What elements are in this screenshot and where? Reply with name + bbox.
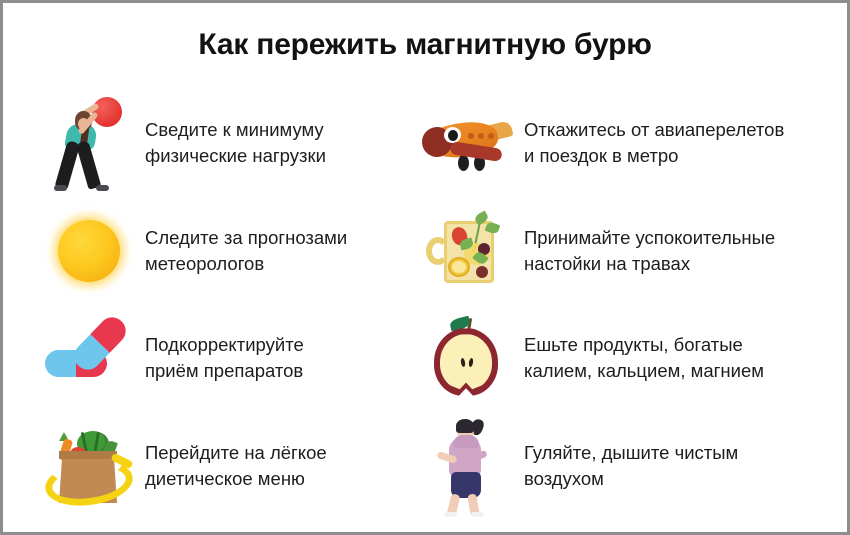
bag-fold-shape (59, 451, 117, 459)
infographic-poster: Как пережить магнитную бурю (0, 0, 850, 535)
leg-shape (76, 140, 102, 190)
tip-item: Сведите к минимуму физические нагрузки (41, 89, 416, 197)
shoe-shape (54, 185, 67, 191)
shoe-shape (96, 185, 109, 191)
apple-half-icon (416, 306, 516, 410)
citrus-pulp-shape (452, 261, 466, 273)
walking-woman-icon (416, 414, 516, 518)
sun-icon (41, 199, 137, 303)
sun-disc-shape (58, 220, 120, 282)
tip-item: Подкорректируйте приём препаратов (41, 305, 416, 413)
window-shape (468, 133, 474, 139)
tip-item: Перейдите на лёгкое диетическое меню (41, 412, 416, 520)
tip-text-line1: Сведите к минимуму (145, 119, 324, 140)
tip-text-line1: Перейдите на лёгкое (145, 442, 327, 463)
tip-item: Гуляйте, дышите чистым воздухом (416, 412, 839, 520)
tip-text: Откажитесь от авиаперелетов и поездок в … (524, 117, 784, 169)
tip-text-line1: Следите за прогнозами (145, 227, 347, 248)
tip-item: Откажитесь от авиаперелетов и поездок в … (416, 89, 839, 197)
shoe-shape (444, 512, 457, 517)
tip-text-line2: физические нагрузки (145, 143, 326, 169)
page-title: Как пережить магнитную бурю (3, 3, 847, 67)
tip-text-line1: Ешьте продукты, богатые (524, 334, 743, 355)
tips-grid: Сведите к минимуму физические нагрузки (3, 89, 847, 520)
tip-text-line2: настойки на травах (524, 251, 775, 277)
tip-text: Гуляйте, дышите чистым воздухом (524, 440, 738, 492)
exercise-ball-shape (92, 97, 122, 127)
tip-text: Ешьте продукты, богатые калием, кальцием… (524, 332, 764, 384)
pupil-shape (448, 130, 458, 141)
tip-text-line2: калием, кальцием, магнием (524, 358, 764, 384)
tip-text-line1: Принимайте успокоительные (524, 227, 775, 248)
airplane-icon (416, 91, 516, 195)
grocery-bag-measuring-tape-icon (41, 414, 137, 518)
tip-text-line1: Гуляйте, дышите чистым (524, 442, 738, 463)
wheel-shape (458, 155, 469, 171)
exercise-woman-icon (41, 91, 137, 195)
window-shape (478, 133, 484, 139)
hood-shape (453, 435, 479, 448)
apple-flesh-shape (440, 334, 492, 390)
tip-item: Ешьте продукты, богатые калием, кальцием… (416, 305, 839, 413)
pills-icon (41, 306, 137, 410)
window-shape (488, 133, 494, 139)
shoe-shape (471, 512, 484, 517)
tip-text: Сведите к минимуму физические нагрузки (145, 117, 326, 169)
tip-text-line1: Откажитесь от авиаперелетов (524, 119, 784, 140)
tip-item: Принимайте успокоительные настойки на тр… (416, 197, 839, 305)
tip-text-line2: и поездок в метро (524, 143, 784, 169)
tip-text: Перейдите на лёгкое диетическое меню (145, 440, 327, 492)
tip-text: Подкорректируйте приём препаратов (145, 332, 304, 384)
tip-text-line2: воздухом (524, 466, 738, 492)
tip-item: Следите за прогнозами метеорологов (41, 197, 416, 305)
tip-text: Принимайте успокоительные настойки на тр… (524, 225, 775, 277)
tip-text: Следите за прогнозами метеорологов (145, 225, 347, 277)
herbal-tea-mug-icon (416, 199, 516, 303)
tip-text-line1: Подкорректируйте (145, 334, 304, 355)
tip-text-line2: приём препаратов (145, 358, 304, 384)
tip-text-line2: метеорологов (145, 251, 347, 277)
tip-text-line2: диетическое меню (145, 466, 327, 492)
hair-shape (456, 419, 474, 433)
berry-shape (476, 266, 488, 278)
